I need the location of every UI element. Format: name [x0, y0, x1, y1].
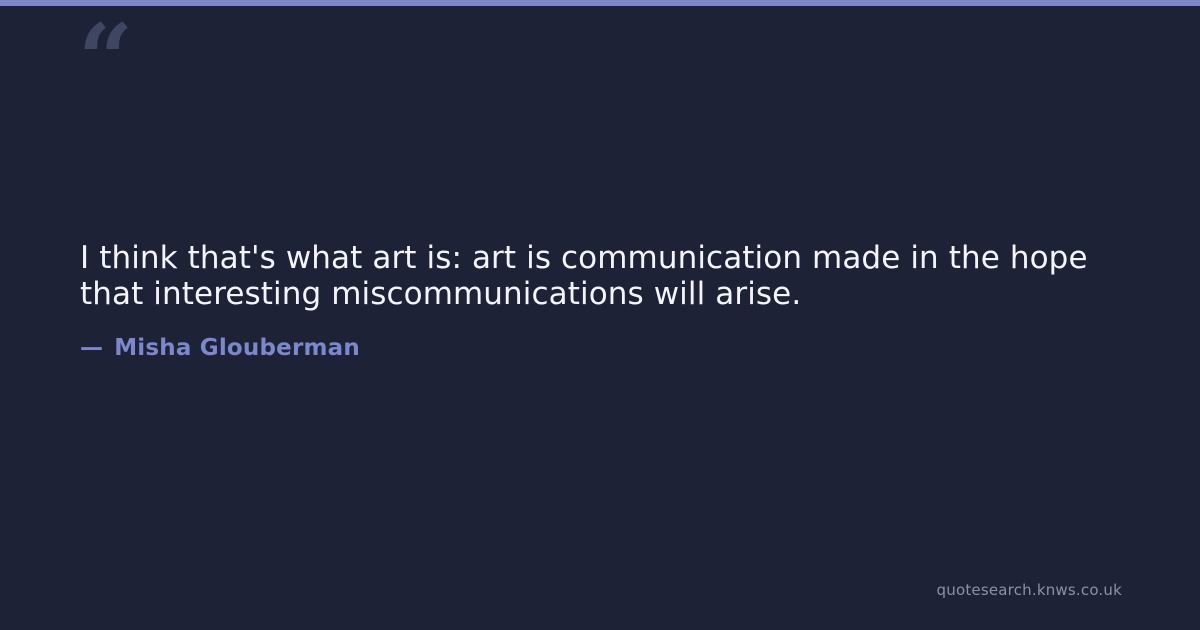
quote-text: I think that's what art is: art is commu…: [80, 240, 1124, 312]
quote-author: — Misha Glouberman: [80, 334, 1124, 362]
site-watermark: quotesearch.knws.co.uk: [937, 580, 1122, 600]
top-accent-bar: [0, 0, 1200, 6]
quote-content: I think that's what art is: art is commu…: [80, 240, 1124, 362]
quote-card: “ I think that's what art is: art is com…: [0, 0, 1200, 630]
author-name: Misha Glouberman: [114, 334, 360, 362]
quotation-mark-icon: “: [78, 12, 131, 108]
author-dash: —: [80, 334, 103, 362]
